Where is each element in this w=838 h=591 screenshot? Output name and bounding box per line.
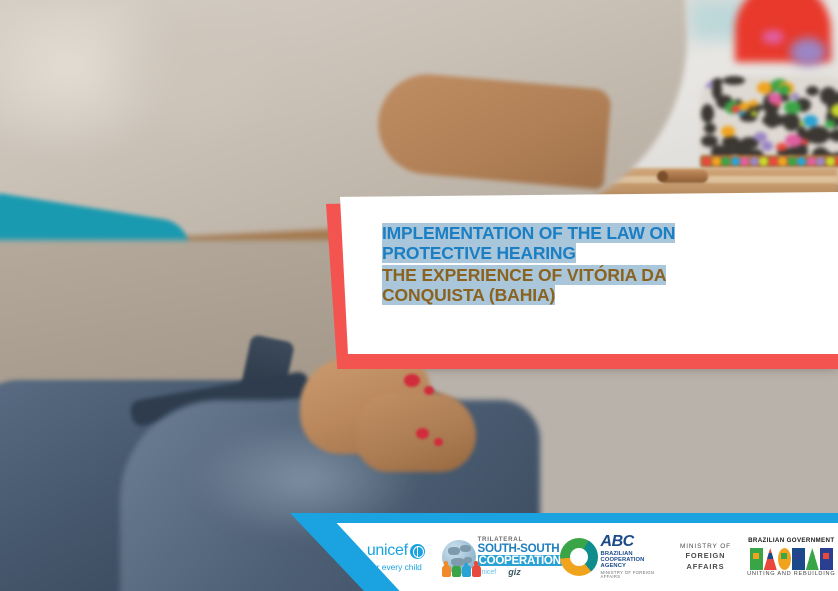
photo-purple-object: [790, 38, 826, 66]
brasil-letter-accent: [753, 553, 759, 559]
brasil-letter-accent: [795, 553, 801, 559]
unicef-wordmark: unicef: [367, 542, 408, 560]
brasil-letter-accent: [781, 553, 787, 559]
globe-with-people-icon: [442, 540, 476, 574]
leopard-spot: [829, 129, 838, 142]
brasil-letter: [806, 548, 819, 570]
logo-abc-brazilian-cooperation-agency: ABC BRAZILIAN COOPERATION AGENCY MINISTR…: [560, 534, 667, 579]
photo-sleeve-fold: [105, 11, 292, 150]
title-line-1: IMPLEMENTATION OF THE LAW ON: [382, 224, 812, 244]
bead: [702, 157, 711, 166]
photo-fingernail: [416, 428, 429, 439]
ministry-line-3: AFFAIRS: [666, 562, 744, 573]
brasil-top-text: BRAZILIAN GOVERNMENT: [745, 537, 838, 544]
leopard-colour-dot: [757, 82, 772, 94]
bead: [769, 157, 778, 166]
unicef-tagline: for every child: [350, 562, 442, 572]
title-line-2: PROTECTIVE HEARING: [382, 244, 812, 264]
leopard-spot: [806, 86, 819, 96]
cover-title: IMPLEMENTATION OF THE LAW ON PROTECTIVE …: [382, 224, 812, 305]
abc-footnote: MINISTRY OF FOREIGN AFFAIRS: [601, 571, 667, 580]
bead: [750, 157, 759, 166]
bead: [712, 157, 721, 166]
bead: [721, 157, 730, 166]
bead: [816, 157, 825, 166]
logo-unicef: unicef for every child: [350, 542, 442, 572]
globe-landmass: [464, 557, 472, 563]
leopard-colour-dot: [791, 93, 799, 99]
bead: [788, 157, 797, 166]
ministry-line-1: MINISTRY OF: [666, 542, 744, 551]
leopard-colour-dot: [801, 139, 808, 145]
abc-acronym: ABC: [601, 534, 667, 551]
logo-ministry-of-foreign-affairs: MINISTRY OF FOREIGN AFFAIRS: [666, 542, 744, 573]
trilateral-line-2: SOUTH-SOUTH: [478, 543, 562, 555]
leopard-colour-dot: [749, 100, 758, 107]
brasil-letter: [792, 548, 805, 570]
bead: [778, 157, 787, 166]
leopard-colour-dot: [761, 141, 773, 150]
leopard-spot: [701, 104, 714, 123]
photo-pink-object: [762, 30, 784, 44]
leopard-colour-dot: [825, 120, 834, 127]
brasil-letter: [764, 548, 777, 570]
trilateral-partner-giz: giz: [508, 568, 521, 577]
globe-landmass: [451, 558, 465, 566]
title-line-3: THE EXPERIENCE OF VITÓRIA DA: [382, 266, 812, 286]
photo-fingernail: [424, 386, 434, 395]
logo-trilateral-south-south-cooperation: TRILATERAL SOUTH-SOUTH COOPERATION unice…: [442, 537, 560, 577]
brasil-bottom-text: UNITING AND REBUILDING: [745, 571, 838, 577]
bead: [807, 157, 816, 166]
brasil-letter-accent: [809, 553, 815, 559]
photo-pencil-tip: [657, 171, 668, 182]
leopard-spot: [704, 123, 716, 134]
photo-fingernail: [404, 374, 420, 387]
bead: [731, 157, 740, 166]
leopard-spot: [712, 81, 722, 99]
brasil-wordmark-icon: [745, 546, 838, 570]
leopard-colour-dot: [721, 126, 734, 137]
logo-brazilian-government: BRAZILIAN GOVERNMENT UNITING AND REBUILD…: [745, 537, 838, 577]
brasil-letter-accent: [767, 553, 773, 559]
leopard-colour-dot: [803, 115, 818, 127]
leopard-spot: [723, 76, 745, 85]
brasil-letter-accent: [823, 553, 829, 559]
photo-pencil-case-beads: [700, 155, 838, 168]
leopard-colour-dot: [785, 134, 801, 147]
report-cover: IMPLEMENTATION OF THE LAW ON PROTECTIVE …: [0, 0, 838, 591]
title-line-4: CONQUISTA (BAHIA): [382, 286, 812, 306]
globe-landmass: [448, 547, 460, 555]
bead: [797, 157, 806, 166]
abc-ring-icon: [560, 538, 598, 576]
photo-pencil-case: [700, 76, 838, 162]
bead: [759, 157, 768, 166]
footer-logos: unicef for every child TRILATERAL SOUTH-…: [350, 528, 838, 586]
photo-fingernail: [434, 438, 443, 446]
brasil-letter: [820, 548, 833, 570]
brasil-letter: [778, 548, 791, 570]
globe-landmass: [460, 545, 471, 552]
ministry-line-2: FOREIGN: [666, 551, 744, 562]
leopard-colour-dot: [784, 101, 801, 114]
brasil-letter: [750, 548, 763, 570]
bead: [826, 157, 835, 166]
trilateral-line-3: COOPERATION: [478, 555, 562, 567]
unicef-globe-icon: [410, 544, 425, 559]
bead: [740, 157, 749, 166]
abc-sub-3: AGENCY: [601, 563, 667, 569]
leopard-spot: [783, 113, 799, 131]
